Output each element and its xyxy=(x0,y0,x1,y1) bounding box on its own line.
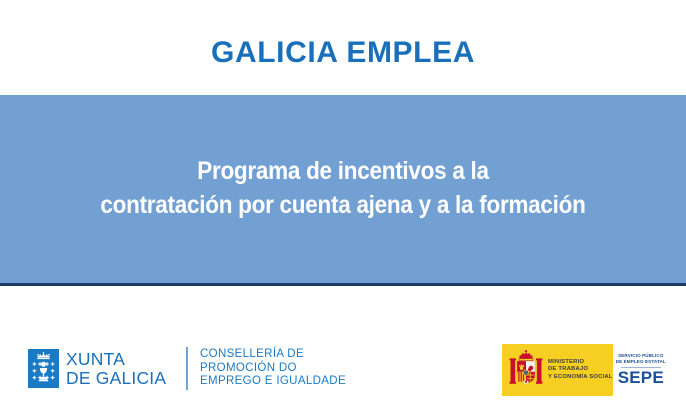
ministerio-label: MINISTERIO DE TRABAJO Y ECONOMÍA SOCIAL xyxy=(548,359,613,381)
program-banner: Programa de incentivos a la contratación… xyxy=(0,95,686,283)
sepe-logo: SERVICIO PÚBLICO DE EMPLEO ESTATAL SEPE xyxy=(613,344,668,396)
conselleria-line-3: EMPREGO E IGUALDADE xyxy=(200,375,346,389)
government-logos-group: MINISTERIO DE TRABAJO Y ECONOMÍA SOCIAL … xyxy=(502,344,668,396)
xunta-wordmark-line-2: DE GALICIA xyxy=(66,369,166,388)
xunta-wordmark-line-1: XUNTA xyxy=(66,350,166,369)
footer-divider xyxy=(186,347,188,390)
sepe-acronym: SEPE xyxy=(618,369,664,387)
xunta-de-galicia-logo: XUNTA DE GALICIA xyxy=(28,349,166,388)
conselleria-label: CONSELLERÍA DE PROMOCIÓN DO EMPREGO E IG… xyxy=(200,348,346,389)
sepe-subtitle-line-2: DE EMPLEO ESTATAL xyxy=(616,359,666,365)
conselleria-line-2: PROMOCIÓN DO xyxy=(200,362,346,376)
xunta-wordmark: XUNTA DE GALICIA xyxy=(66,349,166,388)
ministerio-line-3: Y ECONOMÍA SOCIAL xyxy=(548,374,613,381)
program-banner-line-1: Programa de incentivos a la xyxy=(46,155,640,189)
galicia-chalice-crown-emblem-icon xyxy=(28,349,59,388)
program-banner-line-2: contratación por cuenta ajena y a la for… xyxy=(46,189,640,223)
slide-root: GALICIA EMPLEA Programa de incentivos a … xyxy=(0,0,686,410)
sepe-subtitle: SERVICIO PÚBLICO DE EMPLEO ESTATAL xyxy=(616,353,666,365)
spain-coat-of-arms-icon xyxy=(508,349,544,391)
conselleria-line-1: CONSELLERÍA DE xyxy=(200,348,346,362)
ministerio-line-1: MINISTERIO xyxy=(548,359,613,366)
ministerio-de-trabajo-logo: MINISTERIO DE TRABAJO Y ECONOMÍA SOCIAL xyxy=(502,344,613,396)
banner-bottom-rule xyxy=(0,283,686,286)
footer-logo-bar: XUNTA DE GALICIA CONSELLERÍA DE PROMOCIÓ… xyxy=(0,330,686,410)
page-title-area: GALICIA EMPLEA xyxy=(0,18,686,88)
page-title: GALICIA EMPLEA xyxy=(211,36,475,70)
program-banner-text: Programa de incentivos a la contratación… xyxy=(46,155,640,223)
ministerio-line-2: DE TRABAJO xyxy=(548,366,613,373)
